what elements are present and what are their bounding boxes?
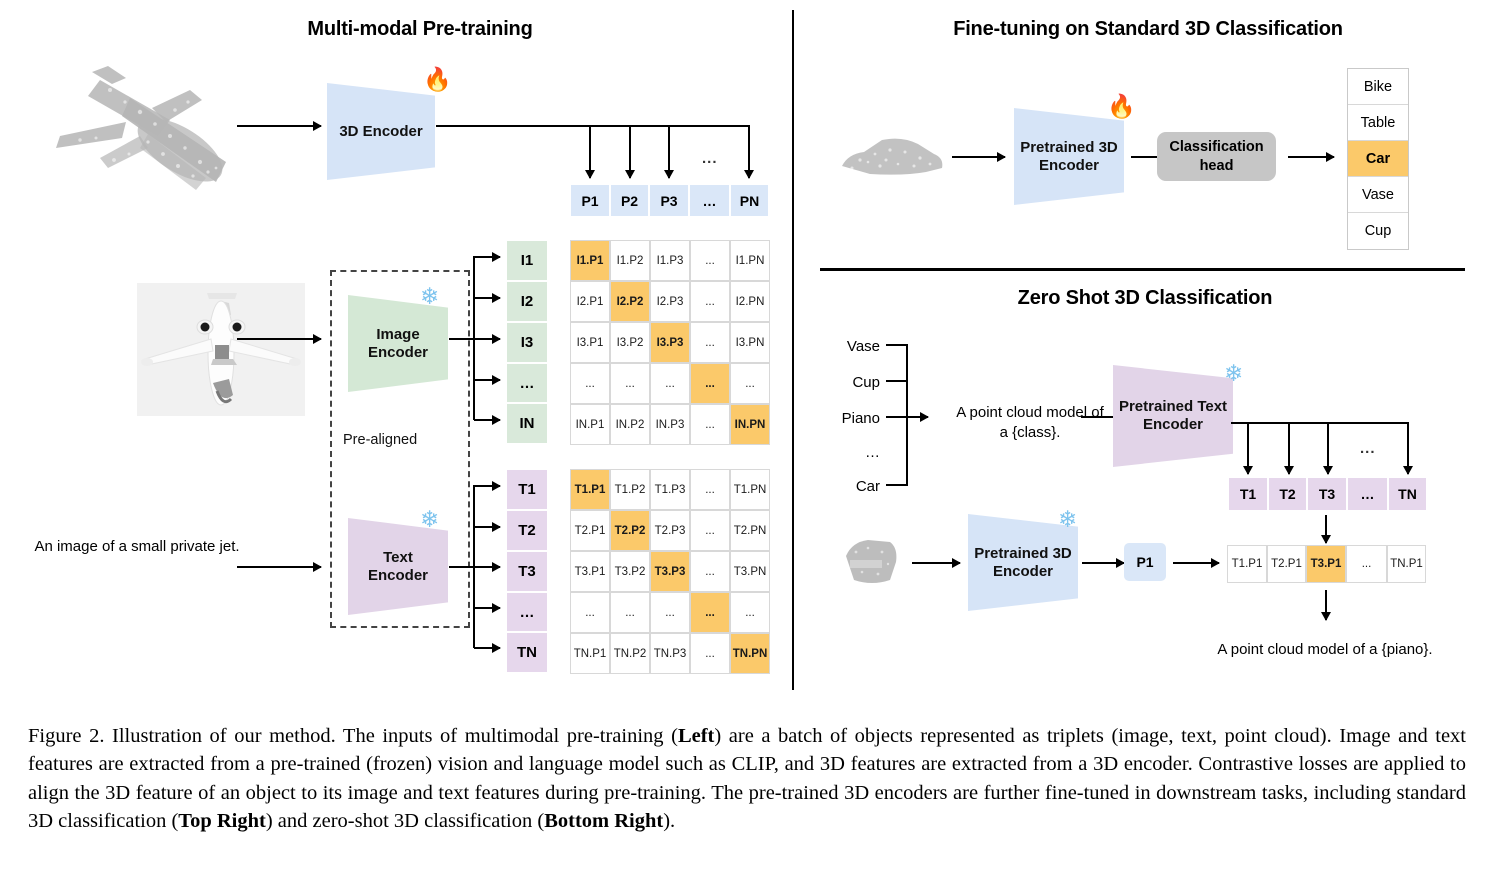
zeroshot-prompt-line1: A point cloud model of (935, 403, 1125, 423)
arrow-text-to-t2 (474, 526, 500, 528)
arrow-image-to-in (474, 419, 500, 421)
zeroshot-bus-horizontal (1231, 422, 1409, 424)
text-matrix-cell: T3.P2 (610, 551, 650, 592)
image-matrix-cell: ... (690, 404, 730, 445)
zeroshot-class-ellipsis: … (785, 444, 880, 461)
class-item-table[interactable]: Table (1348, 105, 1408, 141)
zeroshot-score-row: T1.P1 T2.P1 T3.P1 ... TN.P1 (1227, 545, 1426, 583)
zeroshot-result: A point cloud model of a {piano}. (1175, 640, 1475, 660)
zeroshot-score: ... (1346, 545, 1387, 583)
arrow-scores-to-result (1325, 590, 1327, 620)
image-matrix-cell: I2.P1 (570, 281, 610, 322)
text-matrix-cell: ... (570, 592, 610, 633)
snowflake-icon: ❄ (420, 285, 439, 308)
arrow-to-p1 (589, 126, 591, 178)
zeroshot-prompt-line2: a {class}. (935, 423, 1125, 443)
image-matrix-cell: I1.P3 (650, 240, 690, 281)
bus-3d-horizontal (436, 125, 750, 127)
point-token: P2 (610, 184, 649, 217)
arrow-pointcloud-to-3dencoder (237, 125, 321, 127)
text-token: … (506, 592, 548, 632)
point-cloud-piano (838, 530, 906, 592)
panel-title-zeroshot: Zero Shot 3D Classification (935, 287, 1355, 310)
fire-icon: 🔥 (423, 68, 452, 91)
zeroshot-score: T1.P1 (1227, 545, 1267, 583)
encoder-3d: 3D Encoder (327, 83, 435, 180)
classification-head-label: Classificationhead (1169, 138, 1263, 174)
image-point-similarity-matrix: I1.P1I1.P2I1.P3...I1.PNI2.P1I2.P2I2.P3..… (570, 240, 770, 445)
input-text-caption: An image of a small private jet. (33, 537, 241, 557)
zeroshot-text-token-row: T1 T2 T3 … TN (1228, 477, 1427, 511)
zeroshot-text-encoder-label: Pretrained TextEncoder (1119, 398, 1227, 434)
zeroshot-text-token: T2 (1268, 477, 1307, 511)
zeroshot-text-token: T3 (1307, 477, 1347, 511)
finetune-encoder-label: Pretrained 3DEncoder (1020, 139, 1118, 175)
caption-seg3: ). (663, 810, 675, 832)
image-matrix-cell: ... (730, 363, 770, 404)
zeroshot-text-token: TN (1388, 477, 1427, 511)
image-matrix-cell: I3.PN (730, 322, 770, 363)
image-matrix-cell: IN.P3 (650, 404, 690, 445)
zeroshot-score: T2.P1 (1267, 545, 1306, 583)
caption-bold-left: Left (678, 725, 714, 747)
arrow-to-zs-t1 (1247, 423, 1249, 474)
zeroshot-class-cup: Cup (785, 374, 880, 391)
image-matrix-cell: ... (690, 281, 730, 322)
image-matrix-cell: I2.PN (730, 281, 770, 322)
text-matrix-cell-diagonal: ... (690, 592, 730, 633)
text-token: TN (506, 632, 548, 673)
zeroshot-bus-ellipsis: ... (1360, 440, 1376, 457)
text-matrix-cell: T2.PN (730, 510, 770, 551)
arrow-car-to-encoder (952, 156, 1005, 158)
class-item-cup[interactable]: Cup (1348, 213, 1408, 249)
arrow-encoder-to-p1 (1082, 562, 1124, 564)
text-matrix-cell-diagonal: TN.PN (730, 633, 770, 674)
arrow-to-pn (748, 126, 750, 178)
arrow-classes-to-prompt (886, 416, 928, 418)
image-matrix-cell: I1.PN (730, 240, 770, 281)
arrow-image-to-i1 (474, 256, 500, 258)
text-matrix-cell: ... (610, 592, 650, 633)
text-matrix-cell-diagonal: T2.P2 (610, 510, 650, 551)
encoder-text-label: TextEncoder (368, 549, 428, 585)
arrow-p1-to-scores (1173, 562, 1219, 564)
arrow-text-to-t1 (474, 485, 500, 487)
encoder-image-label: ImageEncoder (368, 326, 428, 362)
image-matrix-cell: ... (650, 363, 690, 404)
arrow-image-to-i3 (474, 338, 500, 340)
fire-icon: 🔥 (1107, 95, 1136, 118)
point-cloud-car (830, 130, 950, 185)
class-item-car[interactable]: Car (1348, 141, 1408, 177)
zeroshot-text-token: T1 (1228, 477, 1268, 511)
text-matrix-cell: T2.P1 (570, 510, 610, 551)
encoder-text: TextEncoder (348, 518, 448, 615)
arrow-to-zs-t3 (1327, 423, 1329, 474)
bracket-tick-car (886, 484, 908, 486)
point-token-row: P1 P2 P3 … PN (570, 184, 769, 217)
class-item-vase[interactable]: Vase (1348, 177, 1408, 213)
text-matrix-cell-diagonal: T1.P1 (570, 469, 610, 510)
text-point-similarity-matrix: T1.P1T1.P2T1.P3...T1.PNT2.P1T2.P2T2.P3..… (570, 469, 770, 674)
caption-seg2: ) and zero-shot 3D classification ( (266, 810, 544, 832)
arrow-to-p2 (629, 126, 631, 178)
caption-prefix: Figure 2. Illustration of our method. Th… (28, 725, 678, 747)
zeroshot-prompt: A point cloud model of a {class}. (935, 403, 1125, 442)
arrow-image-to-i2 (474, 297, 500, 299)
classification-head: Classificationhead (1157, 132, 1276, 181)
text-token-column: T1 T2 T3 … TN (506, 469, 548, 673)
bus-text-horizontal (449, 566, 475, 568)
text-matrix-cell: T1.P3 (650, 469, 690, 510)
zeroshot-class-vase: Vase (785, 338, 880, 355)
zeroshot-point-feature-label: P1 (1136, 554, 1153, 570)
image-matrix-cell-diagonal: ... (690, 363, 730, 404)
image-token: I3 (506, 322, 548, 363)
image-token: I2 (506, 281, 548, 322)
image-matrix-cell: I2.P3 (650, 281, 690, 322)
point-token: … (689, 184, 730, 217)
arrow-tokens-to-scores (1325, 515, 1327, 543)
zeroshot-point-feature: P1 (1124, 543, 1166, 581)
point-token: PN (730, 184, 769, 217)
image-matrix-cell: I3.P2 (610, 322, 650, 363)
image-matrix-cell: ... (610, 363, 650, 404)
class-item-bike[interactable]: Bike (1348, 69, 1408, 105)
image-matrix-cell: ... (690, 322, 730, 363)
bracket-tick-cup (886, 380, 908, 382)
zeroshot-score-best: T3.P1 (1306, 545, 1346, 583)
image-matrix-cell-diagonal: IN.PN (730, 404, 770, 445)
text-matrix-cell: ... (690, 510, 730, 551)
encoder-image: ImageEncoder (348, 295, 448, 392)
image-token: … (506, 363, 548, 403)
text-matrix-cell: T1.PN (730, 469, 770, 510)
class-list[interactable]: Bike Table Car Vase Cup (1347, 68, 1409, 250)
arrow-text-to-tdots (474, 607, 500, 609)
arrow-text-to-t3 (474, 566, 500, 568)
p-bus-ellipsis: ... (702, 150, 718, 167)
point-cloud-airplane (30, 50, 260, 220)
image-matrix-cell-diagonal: I1.P1 (570, 240, 610, 281)
text-matrix-cell: TN.P1 (570, 633, 610, 674)
bus-image-horizontal (449, 338, 475, 340)
figure-caption: Figure 2. Illustration of our method. Th… (28, 722, 1466, 836)
text-matrix-cell: T3.P1 (570, 551, 610, 592)
encoder-3d-label: 3D Encoder (339, 123, 422, 141)
bracket-tick-vase (886, 344, 908, 346)
image-matrix-cell: IN.P1 (570, 404, 610, 445)
arrow-image-to-idots (474, 379, 500, 381)
text-matrix-cell: ... (650, 592, 690, 633)
zeroshot-shape-encoder-label: Pretrained 3DEncoder (974, 545, 1072, 581)
snowflake-icon: ❄ (1058, 508, 1077, 531)
bracket-spine (906, 344, 908, 486)
prealigned-label: Pre-aligned (343, 432, 417, 448)
panel-title-pretraining: Multi-modal Pre-training (230, 18, 610, 41)
text-matrix-cell-diagonal: T3.P3 (650, 551, 690, 592)
arrow-piano-to-encoder (912, 562, 960, 564)
arrow-text-to-tn (474, 647, 500, 649)
text-matrix-cell: ... (690, 633, 730, 674)
image-matrix-cell: IN.P2 (610, 404, 650, 445)
text-matrix-cell: ... (690, 469, 730, 510)
finetune-encoder-3d: Pretrained 3DEncoder (1014, 108, 1124, 205)
snowflake-icon: ❄ (420, 508, 439, 531)
zeroshot-text-token: … (1347, 477, 1388, 511)
text-matrix-cell: ... (730, 592, 770, 633)
zeroshot-class-car: Car (785, 478, 880, 495)
input-image-jet (137, 283, 305, 416)
zeroshot-score: TN.P1 (1387, 545, 1426, 583)
image-matrix-cell-diagonal: I2.P2 (610, 281, 650, 322)
arrow-to-p3 (668, 126, 670, 178)
text-token: T1 (506, 469, 548, 510)
text-matrix-cell: T2.P3 (650, 510, 690, 551)
text-matrix-cell: TN.P2 (610, 633, 650, 674)
point-token: P1 (570, 184, 610, 217)
arrow-image-to-imageencoder (237, 338, 321, 340)
image-token-column: I1 I2 I3 … IN (506, 240, 548, 444)
text-matrix-cell: ... (690, 551, 730, 592)
panel-divider-horizontal (820, 268, 1465, 271)
text-token: T2 (506, 510, 548, 551)
text-matrix-cell: T1.P2 (610, 469, 650, 510)
image-matrix-cell: I3.P1 (570, 322, 610, 363)
arrow-to-zs-t2 (1288, 423, 1290, 474)
arrow-head-to-classes (1288, 156, 1334, 158)
image-matrix-cell: I1.P2 (610, 240, 650, 281)
text-matrix-cell: T3.PN (730, 551, 770, 592)
zeroshot-text-encoder: Pretrained TextEncoder (1113, 365, 1233, 467)
image-matrix-cell: ... (690, 240, 730, 281)
caption-bold-bottomright: Bottom Right (544, 810, 663, 832)
image-token: I1 (506, 240, 548, 281)
caption-bold-topright: Top Right (178, 810, 266, 832)
image-matrix-cell: ... (570, 363, 610, 404)
text-matrix-cell: TN.P3 (650, 633, 690, 674)
arrow-to-zs-tn (1407, 423, 1409, 474)
text-token: T3 (506, 551, 548, 592)
image-token: IN (506, 403, 548, 444)
snowflake-icon: ❄ (1224, 362, 1243, 385)
zeroshot-class-piano: Piano (785, 410, 880, 427)
point-token: P3 (649, 184, 689, 217)
image-matrix-cell-diagonal: I3.P3 (650, 322, 690, 363)
arrow-text-to-textencoder (237, 566, 321, 568)
panel-title-finetuning: Fine-tuning on Standard 3D Classificatio… (868, 18, 1428, 41)
